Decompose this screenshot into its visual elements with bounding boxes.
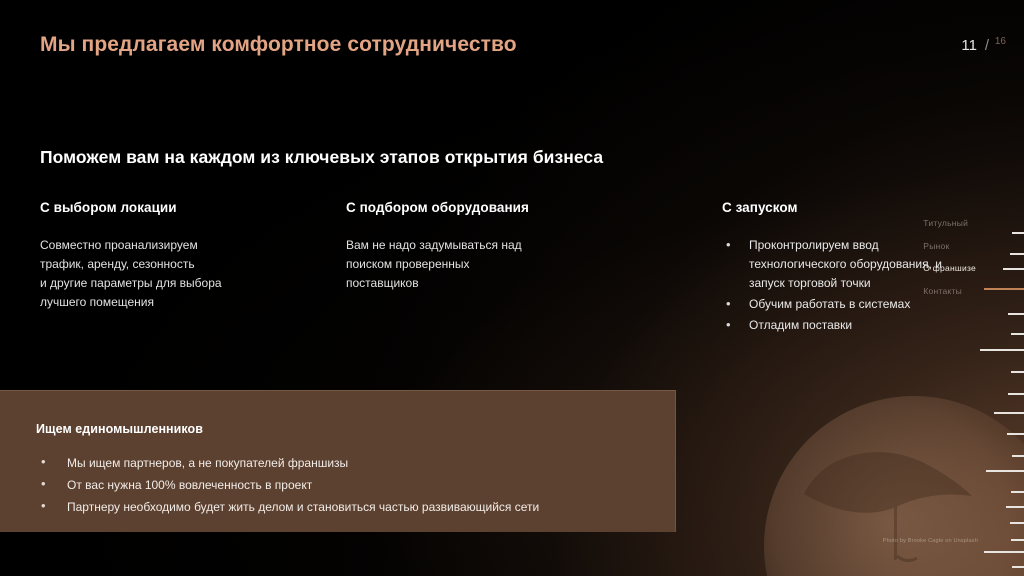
column-heading: С выбором локации [40,200,320,215]
sidebar-item-kontakty[interactable]: Контакты [923,286,976,296]
sidebar-item-o-franshize[interactable]: О франшизе [923,263,976,273]
body-line: поставщиков [346,274,646,293]
list-item: Партнеру необходимо будет жить делом и с… [36,496,539,518]
slide-navigation: Титульный Рынок О франшизе Контакты [923,218,976,308]
panel-heading: Ищем единомышленников [36,422,203,436]
column-body: Вам не надо задумываться над поиском про… [346,236,646,293]
column-location: С выбором локации Совместно проанализиру… [40,200,320,312]
ruler-tick [1007,433,1024,435]
ruler-tick [1012,232,1024,234]
ruler-tick [1011,491,1024,493]
list-item: От вас нужна 100% вовлеченность в проект [36,474,539,496]
column-body: Совместно проанализируем трафик, аренду,… [40,236,320,312]
column-equipment: С подбором оборудования Вам не надо заду… [346,200,646,293]
page-current: 11 [961,37,977,54]
page-title: Мы предлагаем комфортное сотрудничество [40,33,517,57]
umbrella-silhouette-icon [794,436,984,566]
ruler-tick [1010,253,1024,255]
body-line: Совместно проанализируем [40,236,320,255]
ruler-tick [1012,566,1024,568]
list-item: Проконтролируем ввод технологического об… [722,236,952,293]
body-line: поиском проверенных [346,255,646,274]
ruler-tick [980,349,1024,351]
highlight-panel: Ищем единомышленников Мы ищем партнеров,… [0,390,676,532]
sidebar-item-titulny[interactable]: Титульный [923,218,976,228]
section-heading: Поможем вам на каждом из ключевых этапов… [40,147,603,168]
ruler-tick [1012,455,1024,457]
ruler-tick [1003,268,1024,270]
column-launch: С запуском Проконтролируем ввод технолог… [722,200,952,337]
list-item: Обучим работать в системах [722,295,952,314]
ruler-tick [986,470,1024,472]
ruler-tick [1008,313,1024,315]
ruler-tick [994,412,1024,414]
body-line: трафик, аренду, сезонность [40,255,320,274]
ruler-tick [1011,371,1024,373]
ruler-tick [1006,506,1024,508]
ruler-tick [1011,539,1024,541]
column-heading: С подбором оборудования [346,200,646,215]
launch-bullet-list: Проконтролируем ввод технологического об… [722,236,952,335]
ruler-tick [984,288,1024,290]
body-line: и другие параметры для выбора [40,274,320,293]
ruler-tick [984,551,1024,553]
ruler-tick [1008,393,1024,395]
panel-bullet-list: Мы ищем партнеров, а не покупателей фран… [36,452,539,518]
list-item: Мы ищем партнеров, а не покупателей фран… [36,452,539,474]
body-line: лучшего помещения [40,293,320,312]
ruler-tick [1010,522,1024,524]
progress-ruler[interactable] [980,0,1024,576]
photo-credit: Photo by Brooke Cagle on Unsplash [883,538,978,544]
ruler-tick [1011,333,1024,335]
column-heading: С запуском [722,200,952,215]
body-line: Вам не надо задумываться над [346,236,646,255]
sidebar-item-rynok[interactable]: Рынок [923,241,976,251]
list-item: Отладим поставки [722,316,952,335]
